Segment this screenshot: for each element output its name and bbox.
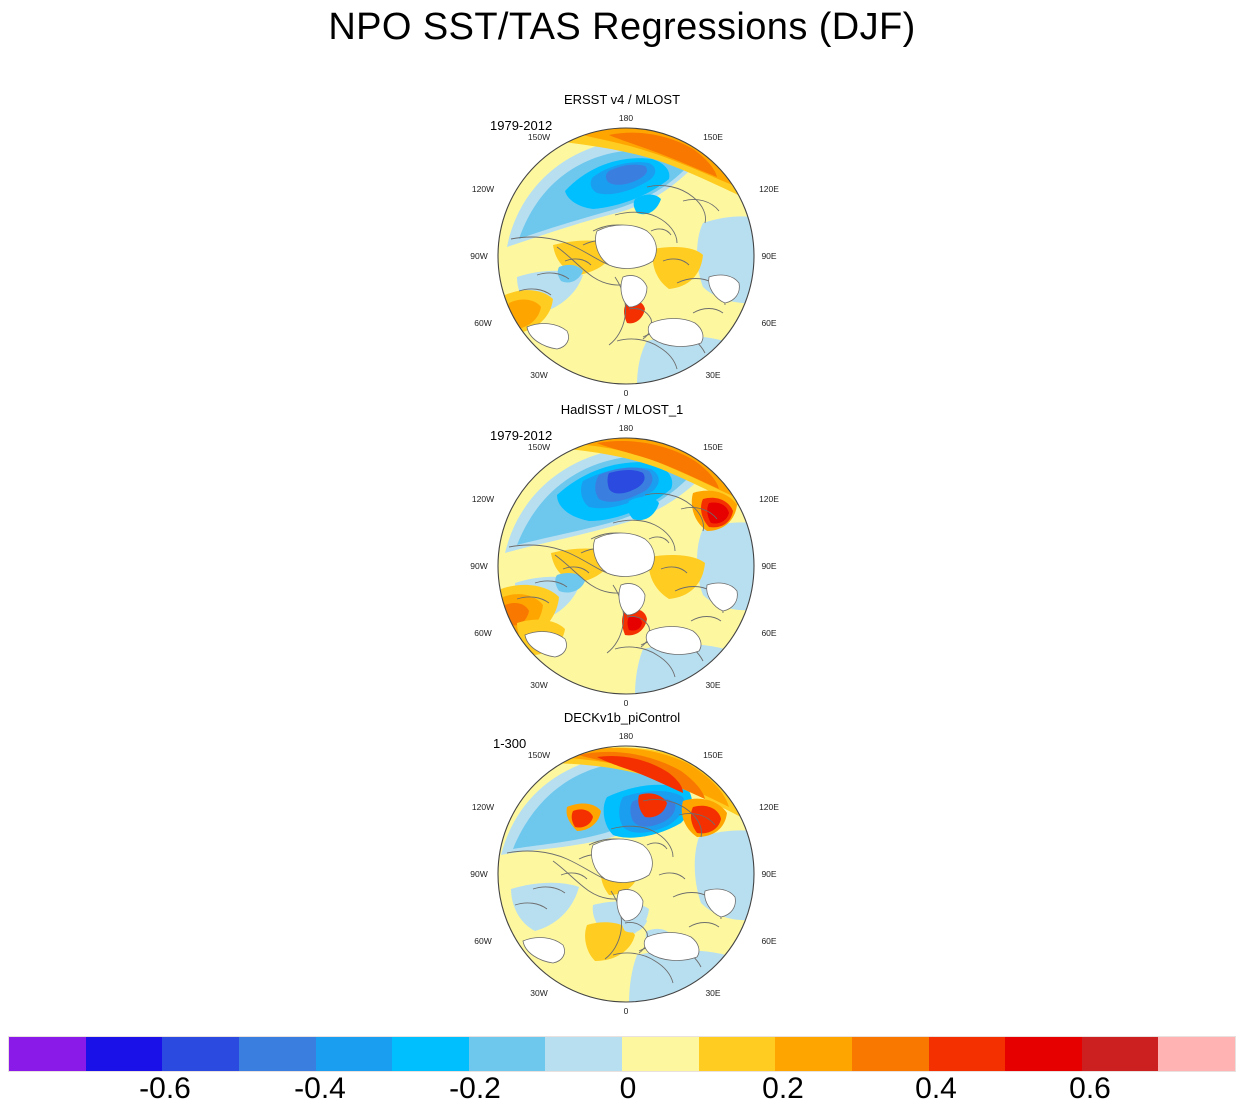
lon-label-30e: 30E: [705, 988, 720, 998]
lon-label-30w: 30W: [530, 988, 547, 998]
colorbar-cell-2: [162, 1037, 239, 1071]
colorbar-cell-13: [1005, 1037, 1082, 1071]
map-deck[interactable]: 180 150E 120E 90E 60E 30E 0 30W 60W 90W …: [497, 745, 755, 1003]
lon-label-120w: 120W: [472, 184, 494, 194]
colorbar-cell-9: [699, 1037, 776, 1071]
lon-label-60e: 60E: [761, 936, 776, 946]
colorbar-cell-12: [929, 1037, 1006, 1071]
lon-label-60w: 60W: [474, 318, 491, 328]
lon-label-150w: 150W: [528, 442, 550, 452]
lon-label-0: 0: [624, 698, 629, 708]
lon-label-30e: 30E: [705, 680, 720, 690]
lon-label-120w: 120W: [472, 494, 494, 504]
lon-label-150w: 150W: [528, 132, 550, 142]
colorbar-tick--0.6: -0.6: [139, 1072, 191, 1106]
colorbar-tick-0.4: 0.4: [915, 1072, 957, 1106]
colorbar-tick-0.6: 0.6: [1069, 1072, 1111, 1106]
lon-label-90w: 90W: [470, 561, 487, 571]
panel-title-hadisst: HadISST / MLOST_1: [0, 402, 1244, 417]
colorbar-tick--0.2: -0.2: [449, 1072, 501, 1106]
lon-label-60e: 60E: [761, 628, 776, 638]
colorbar-tick-0.2: 0.2: [762, 1072, 804, 1106]
colorbar[interactable]: [8, 1036, 1236, 1072]
colorbar-cell-10: [775, 1037, 852, 1071]
globe-hadisst[interactable]: [497, 437, 755, 695]
lon-label-150e: 150E: [703, 750, 723, 760]
colorbar-tick--0.4: -0.4: [294, 1072, 346, 1106]
lon-label-150w: 150W: [528, 750, 550, 760]
lon-label-180: 180: [619, 113, 633, 123]
colorbar-cell-15: [1158, 1037, 1235, 1071]
colorbar-cell-8: [622, 1037, 699, 1071]
page-title: NPO SST/TAS Regressions (DJF): [0, 6, 1244, 49]
colorbar-cell-5: [392, 1037, 469, 1071]
colorbar-cell-11: [852, 1037, 929, 1071]
colorbar-cell-0: [9, 1037, 86, 1071]
map-ersst[interactable]: 180 150E 120E 90E 60E 30E 0 30W 60W 90W …: [497, 127, 755, 385]
globe-ersst[interactable]: [497, 127, 755, 385]
colorbar-tick-0: 0: [620, 1072, 637, 1106]
lon-label-180: 180: [619, 731, 633, 741]
lon-label-90e: 90E: [761, 561, 776, 571]
lon-label-150e: 150E: [703, 442, 723, 452]
lon-label-90w: 90W: [470, 251, 487, 261]
colorbar-cell-6: [469, 1037, 546, 1071]
map-hadisst[interactable]: 180 150E 120E 90E 60E 30E 0 30W 60W 90W …: [497, 437, 755, 695]
colorbar-tick-labels: -0.6-0.4-0.200.20.40.6: [0, 1072, 1244, 1116]
lon-label-60w: 60W: [474, 936, 491, 946]
colorbar-cell-1: [86, 1037, 163, 1071]
lon-label-30w: 30W: [530, 370, 547, 380]
lon-label-60w: 60W: [474, 628, 491, 638]
colorbar-cell-3: [239, 1037, 316, 1071]
lon-label-90e: 90E: [761, 869, 776, 879]
lon-label-0: 0: [624, 1006, 629, 1016]
panel-title-ersst: ERSST v4 / MLOST: [0, 92, 1244, 107]
lon-label-120e: 120E: [759, 494, 779, 504]
lon-label-120w: 120W: [472, 802, 494, 812]
lon-label-30e: 30E: [705, 370, 720, 380]
panel-title-deck: DECKv1b_piControl: [0, 710, 1244, 725]
globe-deck[interactable]: [497, 745, 755, 1003]
colorbar-cell-4: [316, 1037, 393, 1071]
lon-label-30w: 30W: [530, 680, 547, 690]
lon-label-120e: 120E: [759, 802, 779, 812]
lon-label-90e: 90E: [761, 251, 776, 261]
lon-label-180: 180: [619, 423, 633, 433]
colorbar-cell-7: [545, 1037, 622, 1071]
lon-label-0: 0: [624, 388, 629, 398]
lon-label-150e: 150E: [703, 132, 723, 142]
lon-label-120e: 120E: [759, 184, 779, 194]
colorbar-cell-14: [1082, 1037, 1159, 1071]
lon-label-90w: 90W: [470, 869, 487, 879]
lon-label-60e: 60E: [761, 318, 776, 328]
